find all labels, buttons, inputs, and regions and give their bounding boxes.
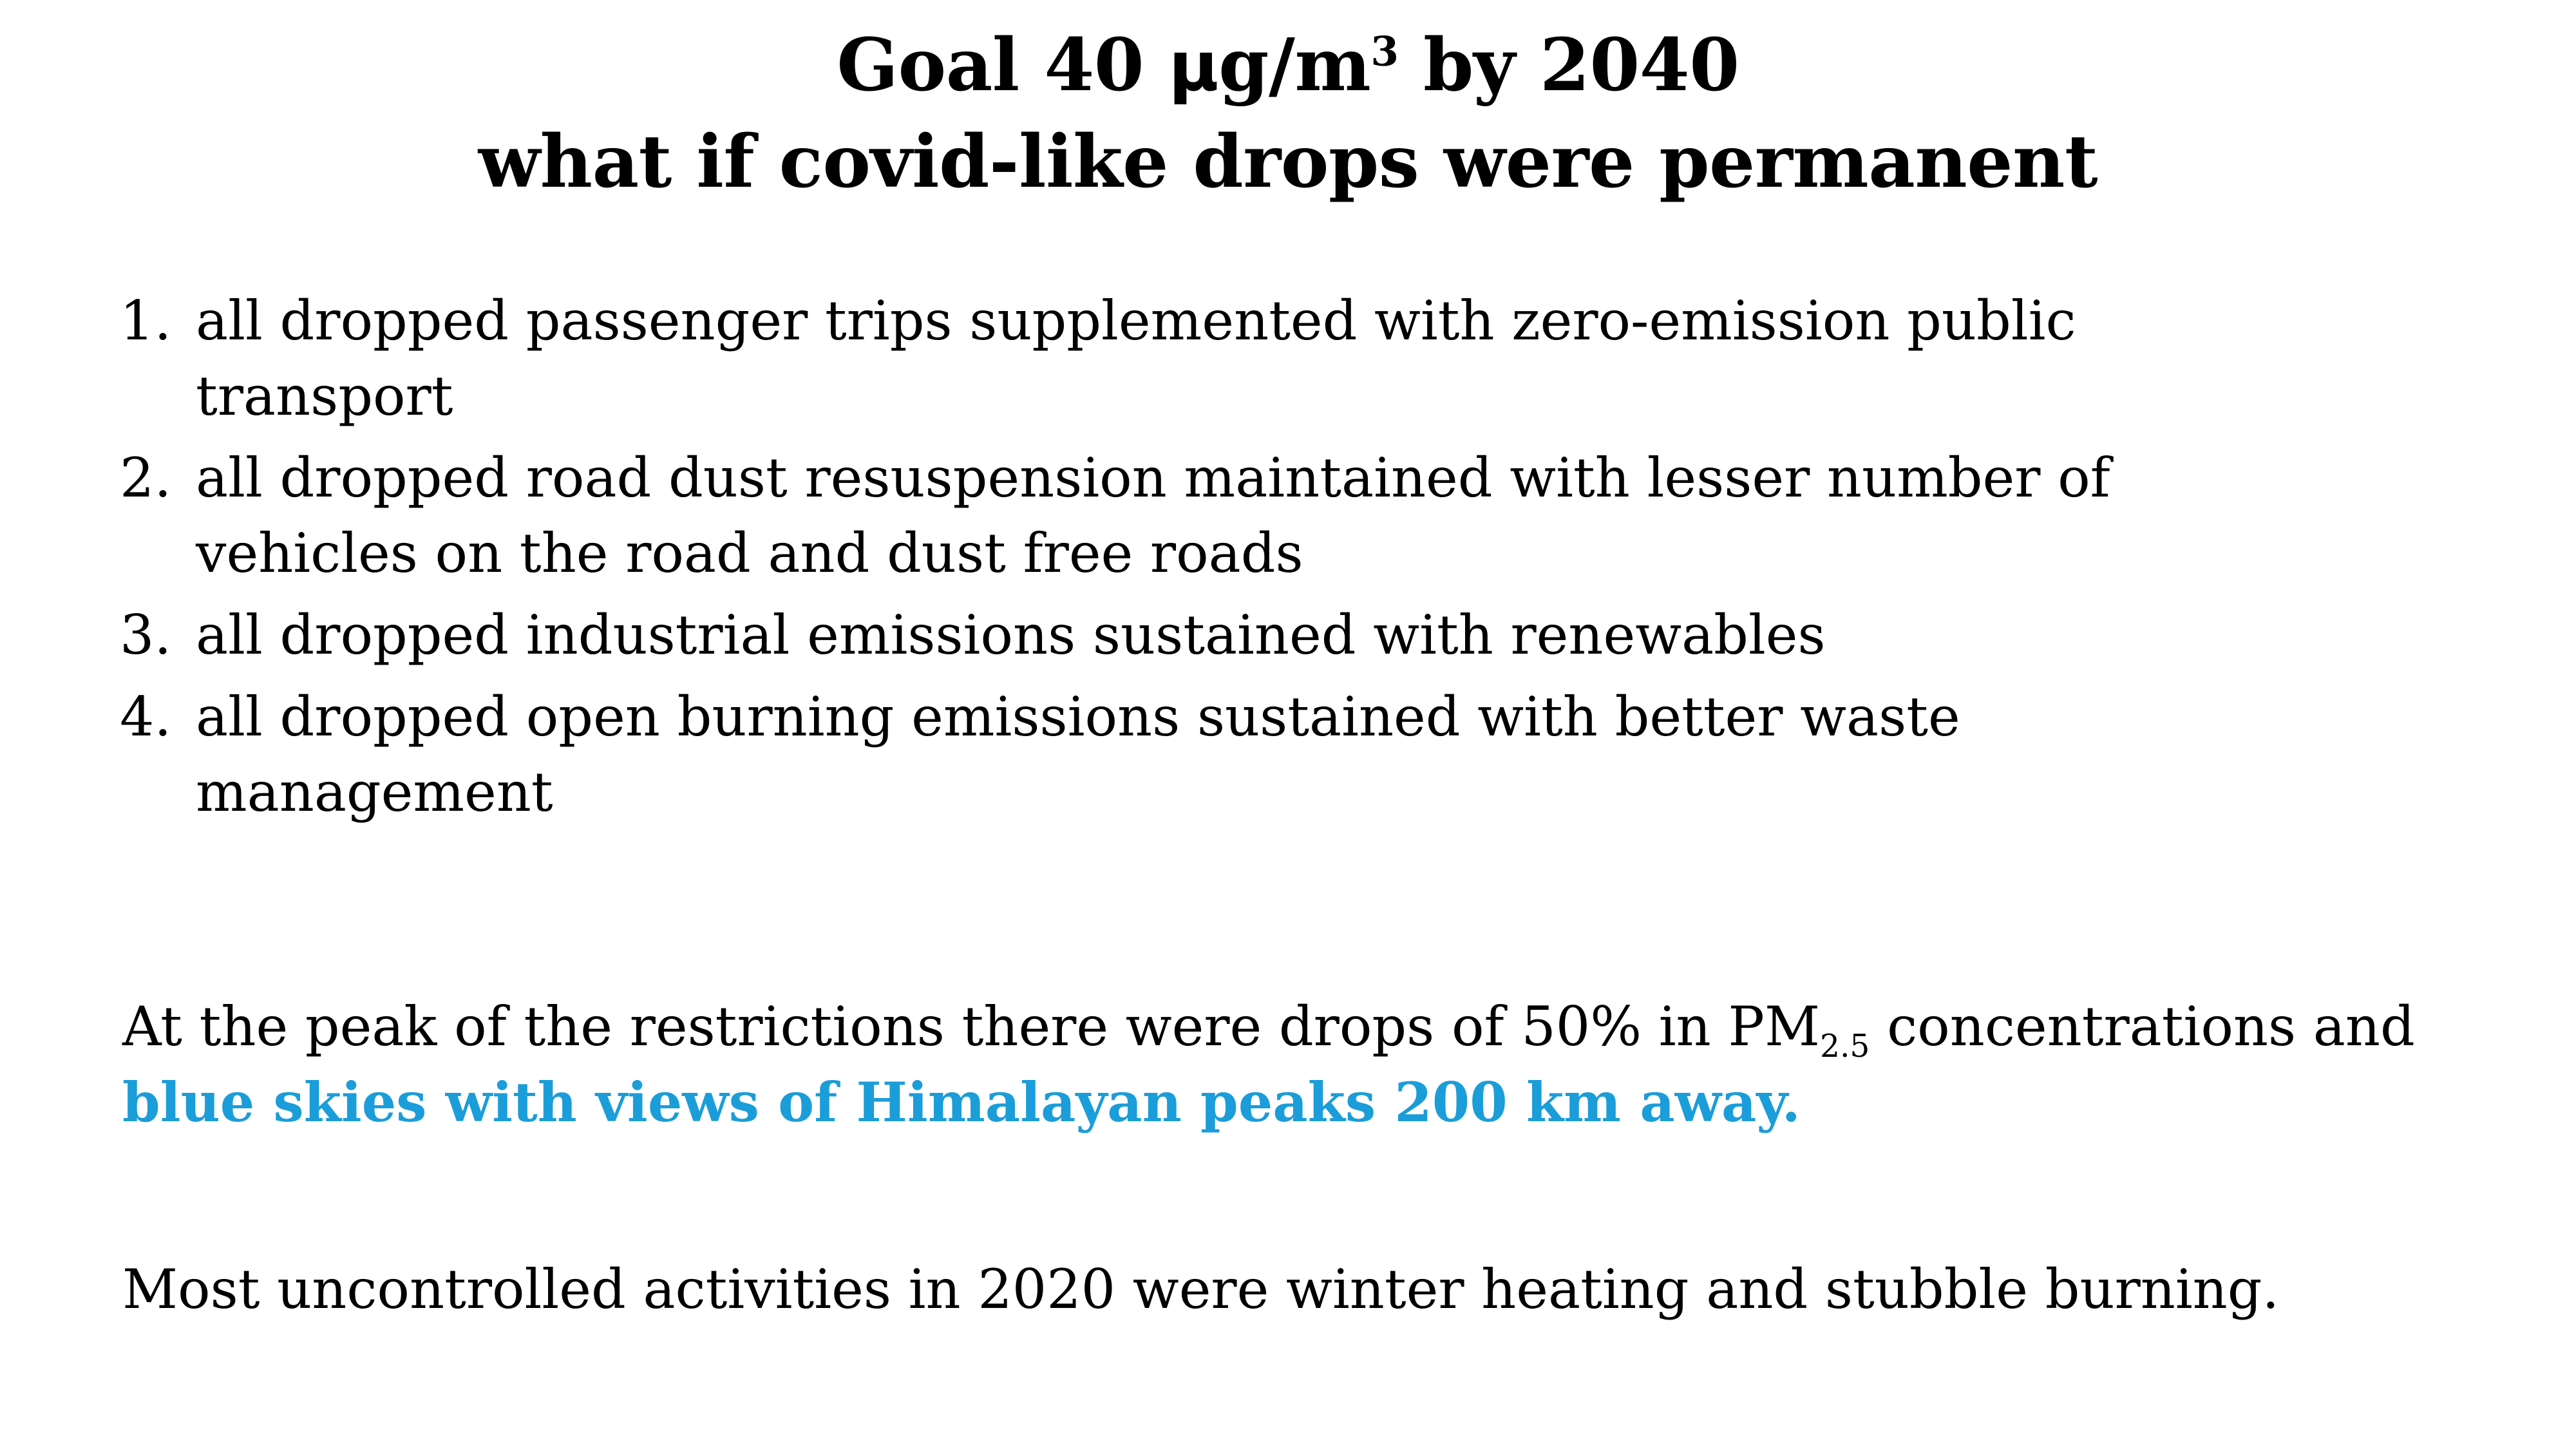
list-item: 1. all dropped passenger trips supplemen… xyxy=(120,283,2412,434)
slide-canvas: Goal 40 μg/m3 by 2040 what if covid-like… xyxy=(0,0,2576,1449)
paragraph-restrictions: At the peak of the restrictions there we… xyxy=(122,989,2460,1141)
list-item: 4. all dropped open burning emissions su… xyxy=(120,679,2412,830)
title-superscript-3: 3 xyxy=(1370,28,1398,75)
list-item-number: 3. xyxy=(120,598,196,673)
title-suffix: by 2040 xyxy=(1399,23,1739,108)
list-item-text: all dropped industrial emissions sustain… xyxy=(196,598,2315,673)
title-line-2: what if covid-like drops were permanent xyxy=(0,115,2576,210)
list-item-number: 4. xyxy=(120,679,196,755)
list-item-number: 2. xyxy=(120,440,196,516)
pm25-subscript: 2.5 xyxy=(1820,1028,1870,1065)
paragraph-a-segment-2: concentrations and xyxy=(1870,995,2414,1058)
list-item-text: all dropped open burning emissions susta… xyxy=(196,679,2315,830)
list-item-number: 1. xyxy=(120,283,196,359)
title-line-1: Goal 40 μg/m3 by 2040 xyxy=(0,18,2576,115)
highlighted-blue-skies-text: blue skies with views of Himalayan peaks… xyxy=(122,1070,1801,1134)
paragraph-a-segment-1: At the peak of the restrictions there we… xyxy=(122,995,1820,1058)
paragraph-uncontrolled-activities: Most uncontrolled activities in 2020 wer… xyxy=(122,1252,2460,1327)
title-units: g/m xyxy=(1218,23,1370,108)
list-item: 3. all dropped industrial emissions sust… xyxy=(120,598,2412,673)
slide-title: Goal 40 μg/m3 by 2040 what if covid-like… xyxy=(0,18,2576,210)
micro-symbol: μ xyxy=(1169,27,1219,106)
list-item-text: all dropped road dust resuspension maint… xyxy=(196,440,2315,591)
list-item: 2. all dropped road dust resuspension ma… xyxy=(120,440,2412,591)
numbered-list: 1. all dropped passenger trips supplemen… xyxy=(120,283,2412,837)
list-item-text: all dropped passenger trips supplemented… xyxy=(196,283,2315,434)
title-prefix: Goal 40 xyxy=(837,23,1168,108)
